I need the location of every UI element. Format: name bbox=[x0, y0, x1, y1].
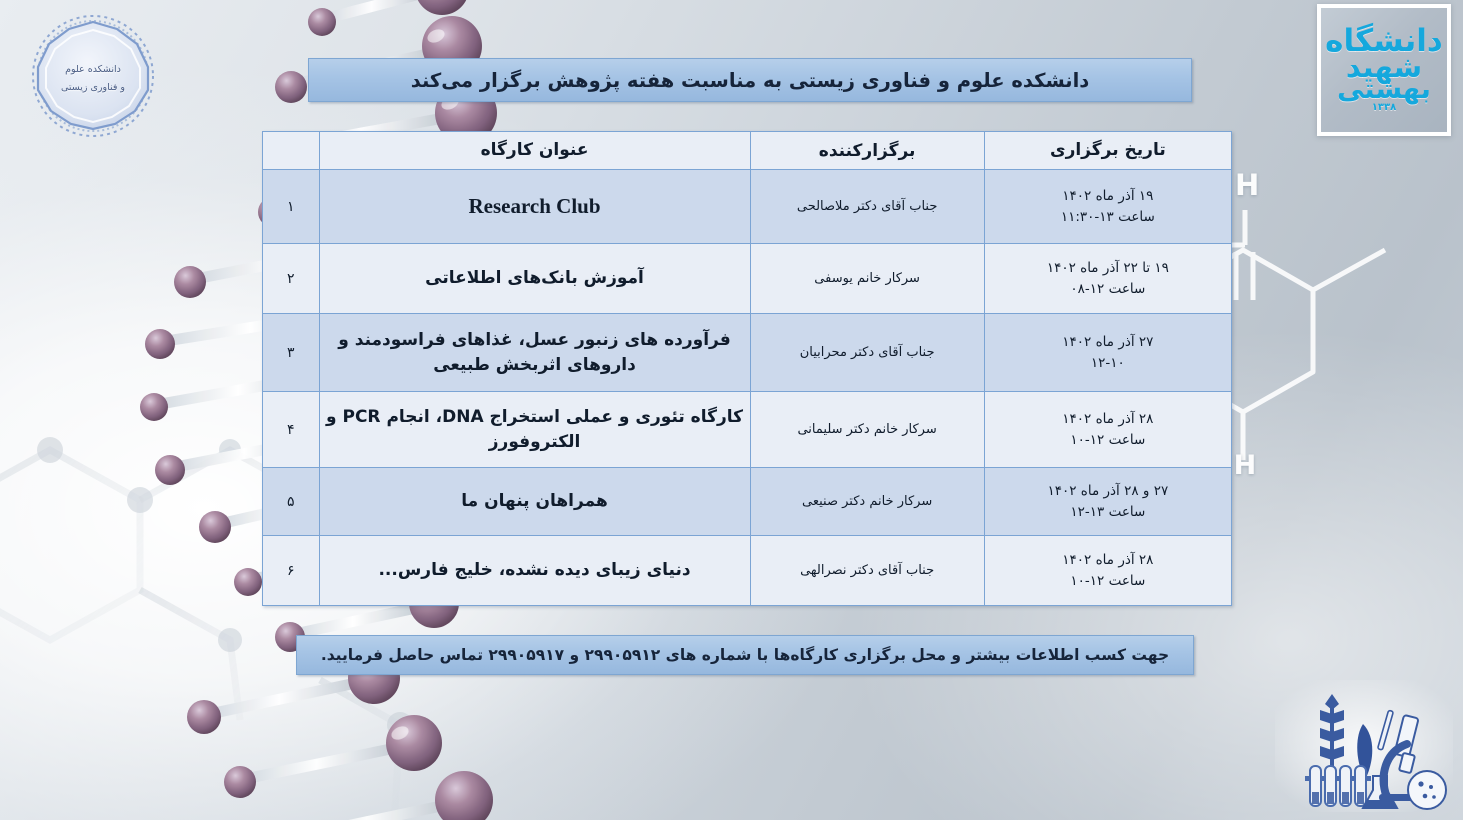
faculty-seal-line1: دانشکده علوم bbox=[65, 64, 121, 75]
cell-index: ۵ bbox=[263, 468, 320, 536]
cell-date: ۲۷ و ۲۸ آذر ماه ۱۴۰۲ ساعت ۱۳-۱۲ bbox=[984, 468, 1231, 536]
table-header: تاریخ برگزاری برگزارکننده عنوان کارگاه bbox=[263, 132, 1232, 170]
date-line-2: ساعت ۱۳-۱۱:۳۰ bbox=[991, 207, 1225, 228]
cell-title: همراهان پنهان ما bbox=[319, 468, 750, 536]
faculty-seal-line2: و فناوری زیستی bbox=[61, 82, 125, 93]
cell-host: سرکار خانم یوسفی bbox=[750, 244, 984, 314]
table-body: ۱۹ آذر ماه ۱۴۰۲ ساعت ۱۳-۱۱:۳۰ جناب آقای … bbox=[263, 170, 1232, 606]
cell-host: جناب آقای دکتر ملاصالحی bbox=[750, 170, 984, 244]
cell-title: آموزش بانک‌های اطلاعاتی bbox=[319, 244, 750, 314]
faculty-seal-text: دانشکده علوم و فناوری زیستی bbox=[14, 12, 172, 144]
column-header-date: تاریخ برگزاری bbox=[984, 132, 1231, 170]
table-row: ۱۹ تا ۲۲ آذر ماه ۱۴۰۲ ساعت ۱۲-۰۸ سرکار خ… bbox=[263, 244, 1232, 314]
shahid-beheshti-university-logo: دانشگاه شهید بهشتی ۱۳۳۸ bbox=[1317, 4, 1451, 136]
cell-index: ۲ bbox=[263, 244, 320, 314]
date-line-2: ساعت ۱۳-۱۲ bbox=[991, 502, 1225, 523]
workshop-schedule-table: تاریخ برگزاری برگزارکننده عنوان کارگاه ۱… bbox=[262, 131, 1232, 606]
cell-host: سرکار خانم دکتر صنیعی bbox=[750, 468, 984, 536]
table-row: ۱۹ آذر ماه ۱۴۰۲ ساعت ۱۳-۱۱:۳۰ جناب آقای … bbox=[263, 170, 1232, 244]
poster-canvas: CH₃ H NH دانشکده علوم bbox=[0, 0, 1463, 820]
table-row: ۲۸ آذر ماه ۱۴۰۲ ساعت ۱۲-۱۰ سرکار خانم دک… bbox=[263, 392, 1232, 468]
table-row: ۲۷ آذر ماه ۱۴۰۲ ۱۲-۱۰ جناب آقای دکتر محر… bbox=[263, 314, 1232, 392]
university-logo-year: ۱۳۳۸ bbox=[1372, 103, 1396, 112]
workshop-title-latin: Research Club bbox=[469, 194, 601, 218]
date-line-2: ساعت ۱۲-۱۰ bbox=[991, 571, 1225, 592]
petri-dish-icon bbox=[1408, 771, 1446, 809]
chem-label-h: H bbox=[1235, 168, 1261, 202]
cell-title: کارگاه تئوری و عملی استخراج DNA، انجام P… bbox=[319, 392, 750, 468]
date-line-1: ۱۹ آذر ماه ۱۴۰۲ bbox=[991, 186, 1225, 207]
cell-index: ۶ bbox=[263, 536, 320, 606]
university-logo-line3: بهشتی bbox=[1337, 78, 1431, 103]
date-line-2: ۱۲-۱۰ bbox=[991, 353, 1225, 374]
cell-title: Research Club bbox=[319, 170, 750, 244]
cell-index: ۱ bbox=[263, 170, 320, 244]
column-header-title: عنوان کارگاه bbox=[319, 132, 750, 170]
cell-date: ۱۹ تا ۲۲ آذر ماه ۱۴۰۲ ساعت ۱۲-۰۸ bbox=[984, 244, 1231, 314]
date-line-1: ۲۷ آذر ماه ۱۴۰۲ bbox=[991, 332, 1225, 353]
date-line-1: ۲۸ آذر ماه ۱۴۰۲ bbox=[991, 550, 1225, 571]
date-line-1: ۲۷ و ۲۸ آذر ماه ۱۴۰۲ bbox=[991, 481, 1225, 502]
cell-host: جناب آقای دکتر نصرالهی bbox=[750, 536, 984, 606]
date-line-1: ۲۸ آذر ماه ۱۴۰۲ bbox=[991, 409, 1225, 430]
date-line-2: ساعت ۱۲-۱۰ bbox=[991, 430, 1225, 451]
date-line-1: ۱۹ تا ۲۲ آذر ماه ۱۴۰۲ bbox=[991, 258, 1225, 279]
date-line-2: ساعت ۱۲-۰۸ bbox=[991, 279, 1225, 300]
cell-index: ۳ bbox=[263, 314, 320, 392]
column-header-host: برگزارکننده bbox=[750, 132, 984, 170]
faculty-seal-logo: دانشکده علوم و فناوری زیستی bbox=[14, 12, 172, 144]
cell-date: ۱۹ آذر ماه ۱۴۰۲ ساعت ۱۳-۱۱:۳۰ bbox=[984, 170, 1231, 244]
contact-info-banner: جهت کسب اطلاعات بیشتر و محل برگزاری کارگ… bbox=[296, 635, 1194, 675]
cell-host: جناب آقای دکتر محرابیان bbox=[750, 314, 984, 392]
biology-lab-emblem bbox=[1275, 680, 1453, 812]
cell-title: دنیای زیبای دیده نشده، خلیج فارس... bbox=[319, 536, 750, 606]
table-row: ۲۸ آذر ماه ۱۴۰۲ ساعت ۱۲-۱۰ جناب آقای دکت… bbox=[263, 536, 1232, 606]
cell-date: ۲۸ آذر ماه ۱۴۰۲ ساعت ۱۲-۱۰ bbox=[984, 392, 1231, 468]
cell-date: ۲۸ آذر ماه ۱۴۰۲ ساعت ۱۲-۱۰ bbox=[984, 536, 1231, 606]
table-header-row: تاریخ برگزاری برگزارکننده عنوان کارگاه bbox=[263, 132, 1232, 170]
cell-index: ۴ bbox=[263, 392, 320, 468]
university-logo-calligraphy: دانشگاه شهید بهشتی ۱۳۳۸ bbox=[1325, 12, 1443, 128]
cell-date: ۲۷ آذر ماه ۱۴۰۲ ۱۲-۱۰ bbox=[984, 314, 1231, 392]
cell-title: فرآورده های زنبور عسل، غذاهای فراسودمند … bbox=[319, 314, 750, 392]
column-header-index bbox=[263, 132, 320, 170]
table-row: ۲۷ و ۲۸ آذر ماه ۱۴۰۲ ساعت ۱۳-۱۲ سرکار خا… bbox=[263, 468, 1232, 536]
title-banner: دانشکده علوم و فناوری زیستی به مناسبت هف… bbox=[308, 58, 1192, 102]
cell-host: سرکار خانم دکتر سلیمانی bbox=[750, 392, 984, 468]
